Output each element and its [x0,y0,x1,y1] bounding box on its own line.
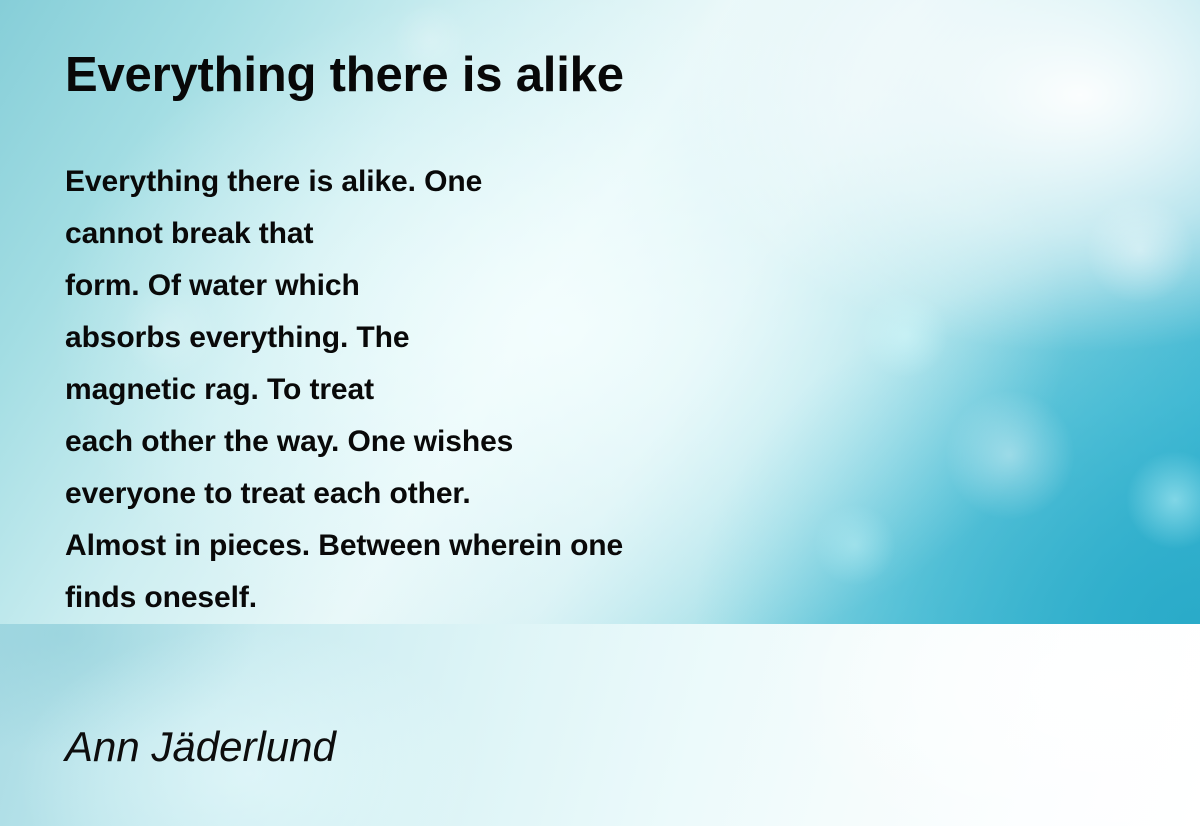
poem-line: Everything there is alike. One [65,156,1065,208]
poem-line: form. Of water which [65,260,1065,312]
poem-body: Everything there is alike. One cannot br… [65,156,1065,624]
poem-author: Ann Jäderlund [65,726,336,768]
poem-line: absorbs everything. The [65,312,1065,364]
poem-line: magnetic rag. To treat [65,364,1065,416]
poem-line: cannot break that [65,208,1065,260]
poem-line: each other the way. One wishes [65,416,1065,468]
poem-line: everyone to treat each other. [65,468,1065,520]
poem-card: Everything there is alike Everything the… [0,0,1200,826]
poem-line: finds oneself. [65,572,1065,624]
poem-line: Almost in pieces. Between wherein one [65,520,1065,572]
poem-title: Everything there is alike [65,51,624,100]
